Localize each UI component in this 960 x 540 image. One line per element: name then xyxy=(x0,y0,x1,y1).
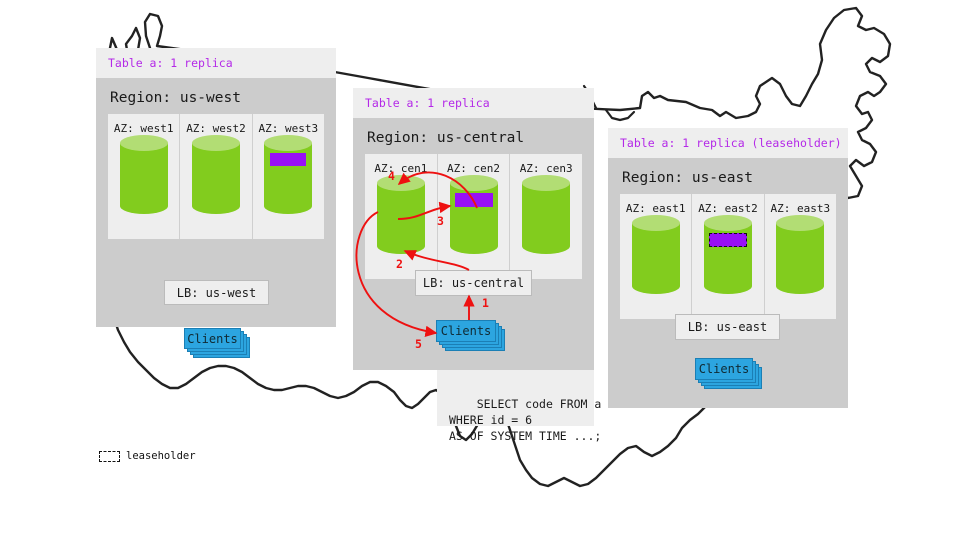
replica-west2[interactable] xyxy=(192,143,240,206)
lb-us-central[interactable]: LB: us-central xyxy=(415,270,532,296)
replica-cylinder xyxy=(776,223,824,286)
az-west3[interactable]: AZ: west3 xyxy=(252,114,324,239)
region-panel-us-east: Table a: 1 replica (leaseholder) Region:… xyxy=(608,128,848,408)
replica-cylinder xyxy=(522,183,570,246)
az-east3[interactable]: AZ: east3 xyxy=(764,194,836,319)
range-bar xyxy=(455,193,493,207)
arrow-label-1: 1 xyxy=(482,296,489,310)
az-row-us-west: AZ: west1 AZ: west2 AZ: west3 xyxy=(108,114,324,239)
region-header-us-west: Table a: 1 replica xyxy=(96,48,336,78)
clients-label: Clients xyxy=(699,362,750,376)
az-east1[interactable]: AZ: east1 xyxy=(620,194,691,319)
sql-text: SELECT code FROM a WHERE id = 6 AS OF SY… xyxy=(449,397,601,443)
replica-west3[interactable] xyxy=(264,143,312,206)
replica-cylinder xyxy=(632,223,680,286)
az-label: AZ: east3 xyxy=(771,202,831,215)
az-cen2[interactable]: AZ: cen2 xyxy=(437,154,510,279)
region-header-us-central: Table a: 1 replica xyxy=(353,88,594,118)
dashed-rect-icon xyxy=(99,451,120,462)
clients-front[interactable]: Clients xyxy=(436,320,496,342)
leaseholder-bar xyxy=(709,233,747,247)
replica-cylinder xyxy=(704,223,752,286)
sql-query-box: SELECT code FROM a WHERE id = 6 AS OF SY… xyxy=(437,370,594,426)
region-title-us-west: Region: us-west xyxy=(96,78,336,114)
az-label: AZ: cen2 xyxy=(447,162,500,175)
clients-front[interactable]: Clients xyxy=(184,328,241,349)
replica-cylinder xyxy=(377,183,425,246)
region-replica-label: Table a: 1 replica xyxy=(108,56,233,70)
replica-cylinder xyxy=(192,143,240,206)
lb-label: LB: us-west xyxy=(177,286,256,300)
arrow-label-3: 3 xyxy=(437,214,444,228)
region-title-us-central: Region: us-central xyxy=(353,118,594,154)
clients-us-central[interactable]: Clients xyxy=(436,320,508,352)
az-west2[interactable]: AZ: west2 xyxy=(179,114,251,239)
arrow-label-2: 2 xyxy=(396,257,403,271)
clients-us-west[interactable]: Clients xyxy=(184,328,252,358)
clients-front[interactable]: Clients xyxy=(695,358,753,380)
replica-cylinder xyxy=(120,143,168,206)
replica-cylinder xyxy=(450,183,498,246)
region-title-us-east: Region: us-east xyxy=(608,158,848,194)
region-panel-us-west: Table a: 1 replica Region: us-west AZ: w… xyxy=(96,48,336,327)
clients-label: Clients xyxy=(187,332,238,346)
replica-east3[interactable] xyxy=(776,223,824,286)
lb-label: LB: us-east xyxy=(688,320,767,334)
az-label: AZ: east1 xyxy=(626,202,686,215)
region-replica-label: Table a: 1 replica xyxy=(365,96,490,110)
replica-east2-leaseholder[interactable] xyxy=(704,223,752,286)
lb-label: LB: us-central xyxy=(423,276,524,290)
region-panel-us-central: Table a: 1 replica Region: us-central AZ… xyxy=(353,88,594,370)
az-label: AZ: west2 xyxy=(186,122,246,135)
replica-cen3[interactable] xyxy=(522,183,570,246)
region-replica-label: Table a: 1 replica (leaseholder) xyxy=(620,136,842,150)
replica-cen2[interactable] xyxy=(450,183,498,246)
arrow-label-5: 5 xyxy=(415,337,422,351)
az-cen3[interactable]: AZ: cen3 xyxy=(509,154,582,279)
region-header-us-east: Table a: 1 replica (leaseholder) xyxy=(608,128,848,158)
replica-west1[interactable] xyxy=(120,143,168,206)
diagram-canvas: 1 2 3 4 5 Table a: 1 replica Region: us-… xyxy=(0,0,960,540)
az-row-us-east: AZ: east1 AZ: east2 AZ: east3 xyxy=(620,194,836,319)
az-label: AZ: west1 xyxy=(114,122,174,135)
az-label: AZ: cen3 xyxy=(520,162,573,175)
range-bar xyxy=(270,153,306,166)
lb-us-west[interactable]: LB: us-west xyxy=(164,280,269,305)
az-label: AZ: cen1 xyxy=(374,162,427,175)
legend: leaseholder xyxy=(99,450,196,462)
replica-cylinder xyxy=(264,143,312,206)
replica-east1[interactable] xyxy=(632,223,680,286)
az-label: AZ: east2 xyxy=(698,202,758,215)
lb-us-east[interactable]: LB: us-east xyxy=(675,314,780,340)
clients-label: Clients xyxy=(441,324,492,338)
legend-label: leaseholder xyxy=(126,450,196,462)
replica-cen1[interactable] xyxy=(377,183,425,246)
clients-us-east[interactable]: Clients xyxy=(695,358,765,390)
az-east2[interactable]: AZ: east2 xyxy=(691,194,763,319)
az-label: AZ: west3 xyxy=(259,122,319,135)
az-west1[interactable]: AZ: west1 xyxy=(108,114,179,239)
arrow-label-4: 4 xyxy=(388,169,395,183)
